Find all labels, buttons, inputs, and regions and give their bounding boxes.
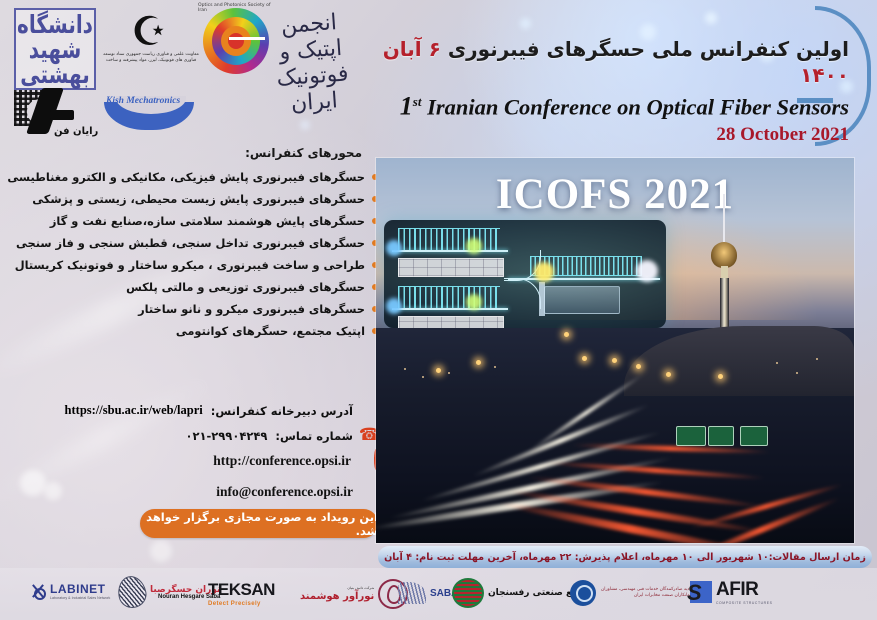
ordinal-number: 1 [400,92,413,121]
topic-label: حسگرهای فیبرنوری توزیعی و مالتی پلکس [126,280,365,295]
iran-emblem-glyph: ☪ [118,10,180,54]
nouravar-label-fa: نورآور هوشمند [300,591,374,602]
title-english: Iranian Conference on Optical Fiber Sens… [427,95,849,120]
sbu-logo-script: دانشگاه شهید بهشتی [20,5,90,93]
bokeh-dot [520,18,531,29]
street-lamp [476,360,481,365]
top-sponsor-logos: دانشگاه شهید بهشتی رایان فن ☪ معاونت علم… [0,0,420,150]
waveguide [392,308,508,310]
topic-item: حسگرهای فیبرنوری تداخل سنجی، قطبش سنجی و… [6,232,380,254]
hero-image: ICOFS 2021 [376,158,854,543]
fiber-coil [398,228,500,252]
photonic-chip-illustration [384,220,666,328]
sponsor-union-telecom: اتحادیه صادرکنندگان خدمات فنی مهندسی، مش… [570,580,696,606]
union-icon [570,580,596,606]
teksan-sublabel: Detect Precisely [208,601,261,607]
sponsor-saba: SABA [398,582,458,604]
light-source-glow [466,294,482,310]
saba-icon [398,582,426,604]
building-window-light [776,362,778,364]
light-source-glow [466,238,482,254]
topics-heading: محورهای کنفرانس: [6,146,380,166]
address-label: آدرس دبیرخانه کنفرانس: [211,404,353,418]
rafsanjan-icon [452,578,484,608]
safir-sublabel: COMPOSITE STRUCTURES [716,601,772,605]
building-window-light [796,372,798,374]
building-window-light [422,376,424,378]
tower-pod [711,242,737,268]
rayan-fan-bar-mark [50,110,74,120]
website-url[interactable]: http://conference.opsi.ir [213,453,351,469]
sensor-panel [398,258,504,277]
rayan-fan-label: رایان فن [54,126,98,137]
waveguide-bend [504,278,541,309]
title-english-line: 1st Iranian Conference on Optical Fiber … [379,87,849,123]
building-window-light [404,368,406,370]
safir-icon: S [690,581,712,603]
topic-label: حسگرهای فیبرنوری پایش زیست محیطی، زیستی … [32,192,365,207]
contact-row-address: آدرس دبیرخانه کنفرانس: https://sbu.ac.ir… [30,398,380,423]
contact-row-website: http://conference.opsi.ir [30,448,380,473]
topic-label: حسگرهای فیبرنوری تداخل سنجی، قطبش سنجی و… [16,236,365,251]
topic-label: حسگرهای فیبرنوری پایش فیزیکی، مکانیکی و … [7,170,365,185]
waveguide [508,278,660,280]
phone-label: شماره تماس: [275,429,353,443]
rayan-fan-logo: رایان فن [10,88,105,140]
bokeh-dot [150,540,172,562]
light-trail-red [527,474,766,509]
shahid-beheshti-university-logo: دانشگاه شهید بهشتی [14,8,96,90]
topics-section: محورهای کنفرانس: حسگرهای فیبرنوری پایش ف… [6,146,380,342]
teksan-label: TEKSAN [208,580,275,600]
contact-section: آدرس دبیرخانه کنفرانس: https://sbu.ac.ir… [30,398,380,504]
labinet-sublabel: Laboratory & Industrial Sales Network [50,596,110,600]
highway-sign [708,426,734,446]
street-lamp [582,356,587,361]
tower-mast [723,194,725,242]
address-url[interactable]: https://sbu.ac.ir/web/lapri [65,403,203,418]
street-lamp [436,368,441,373]
building-window-light [816,358,818,360]
vice-presidency-caption: معاونت علمی و فناوری ریاست جمهوری ستاد ت… [100,52,202,64]
light-trail-red [498,499,765,543]
building-window-light [494,366,496,368]
opsi-persian-script: انجمن اپتیک و فوتونیک ایران [272,10,348,71]
bokeh-dot [705,12,717,24]
contact-row-email: info@conference.opsi.ir [30,479,380,504]
topic-item: طراحی و ساخت فیبرنوری ، میکرو ساختار و ف… [6,254,380,276]
opsi-ring-text: Optics and Photonics Society of Iran [198,3,274,79]
union-sublabel-fa: اتحادیه صادرکنندگان خدمات فنی مهندسی، مش… [600,587,696,599]
deadline-bar: زمان ارسال مقالات:۱۰ شهریور الی ۱۰ مهرما… [378,546,872,568]
title-block: اولین کنفرانس ملی حسگرهای فیبرنوری ۶ آبا… [379,36,849,146]
sponsor-teksan: TEKSAN Detect Precisely [208,580,275,607]
light-source-glow [636,260,658,282]
email-address[interactable]: info@conference.opsi.ir [216,484,353,500]
topic-item: حسگرهای فیبرنوری پایش زیست محیطی، زیستی … [6,188,380,210]
highway-sign [676,426,706,446]
topic-item: حسگرهای فیبرنوری میکرو و نانو ساختار [6,298,380,320]
topic-item: حسگرهای فیبرنوری توزیعی و مالتی پلکس [6,276,380,298]
building-window-light [448,372,450,374]
city-highway-scene [376,328,854,543]
topic-label: حسگرهای پایش هوشمند سلامتی سازه،صنایع نف… [50,214,365,229]
caliper-illustration [544,286,620,314]
topic-item: حسگرهای فیبرنوری پایش فیزیکی، مکانیکی و … [6,166,380,188]
kish-mechatronics-logo: Kish Mechatronics [100,90,198,134]
sponsor-strip: LABINET Laboratory & Industrial Sales Ne… [0,568,877,620]
topic-item: اپتیک مجتمع، حسگرهای کوانتومی [6,320,380,342]
street-lamp [612,358,617,363]
light-source-glow [386,240,402,256]
phone-value: ۰۲۱-۲۹۹۰۴۲۴۹ [185,429,267,443]
topic-label: طراحی و ساخت فیبرنوری ، میکرو ساختار و ف… [15,258,365,273]
light-source-glow [534,262,554,282]
street-lamp [666,372,671,377]
light-source-glow [386,298,402,314]
title-persian-line: اولین کنفرانس ملی حسگرهای فیبرنوری ۶ آبا… [379,36,849,88]
highway-sign [740,426,768,446]
virtual-event-notice: این رویداد به صورت مجازی برگزار خواهد شد… [140,509,378,538]
street-lamp [636,364,641,369]
waveguide [392,250,508,252]
hillside [624,326,854,396]
sponsor-labinet: LABINET Laboratory & Industrial Sales Ne… [30,582,110,600]
sponsor-nouravar-hooshmand: شرکت دانش بنیان نورآور هوشمند [300,579,408,609]
date-english: 28 October 2021 [379,124,849,146]
ordinal-suffix: st [413,94,422,109]
kish-label: Kish Mechatronics [106,96,196,106]
topic-label: حسگرهای فیبرنوری میکرو و نانو ساختار [138,302,365,317]
labinet-icon [30,583,46,599]
conference-poster: دانشگاه شهید بهشتی رایان فن ☪ معاونت علم… [0,0,877,620]
icofs-title: ICOFS 2021 [376,170,854,219]
topic-item: حسگرهای پایش هوشمند سلامتی سازه،صنایع نف… [6,210,380,232]
contact-row-phone: ☎ شماره تماس: ۰۲۱-۲۹۹۰۴۲۴۹ [30,423,380,448]
sponsor-nouran-hesgare-saba: نوران حسگرصبا Nouran Hesgare Saba [118,576,220,608]
fiber-coil [398,286,500,310]
street-lamp [718,374,723,379]
sponsor-safir: S AFIR COMPOSITE STRUCTURES [690,579,772,605]
street-lamp [564,332,569,337]
nouran-hesgare-saba-icon [115,573,149,610]
title-persian: اولین کنفرانس ملی حسگرهای فیبرنوری [448,37,849,61]
topic-label: اپتیک مجتمع، حسگرهای کوانتومی [176,324,365,339]
labinet-label: LABINET [50,582,110,596]
safir-label: AFIR [716,579,772,601]
